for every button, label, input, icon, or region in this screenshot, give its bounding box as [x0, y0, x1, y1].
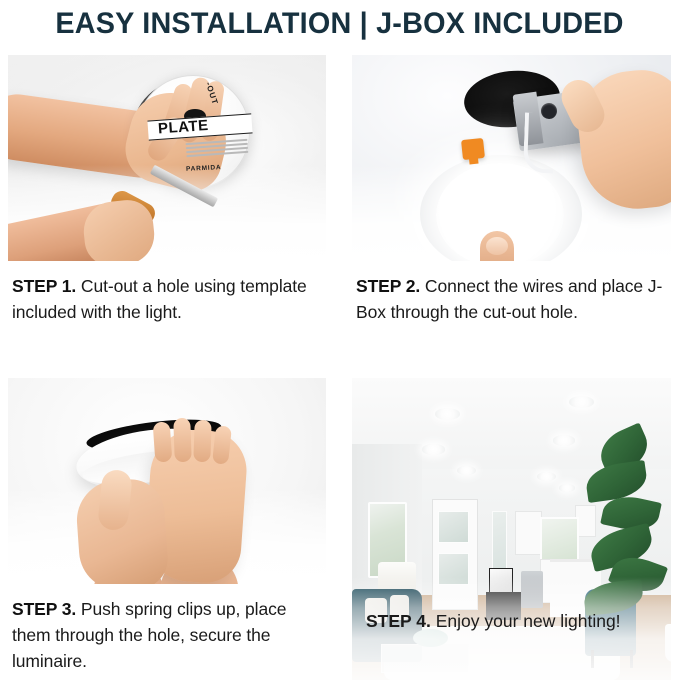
step-4-label: STEP 4.	[366, 611, 431, 631]
recessed-light	[537, 472, 556, 481]
fingernail	[486, 237, 508, 255]
step-3-photo	[8, 378, 326, 584]
steps-grid: -OUT PLATE PARMIDA STEP 1	[8, 55, 671, 680]
step-1-label: STEP 1.	[12, 276, 76, 296]
recessed-light	[559, 484, 575, 492]
step-1-photo: -OUT PLATE PARMIDA	[8, 55, 326, 261]
step-2-photo	[352, 55, 671, 261]
finger-3	[193, 420, 211, 463]
kitchen-upper-cabinet	[515, 511, 543, 555]
door-glass-upper	[438, 511, 469, 543]
kitchen-window	[540, 517, 579, 563]
step-3-caption: STEP 3. Push spring clips up, place them…	[8, 584, 326, 674]
step-4-photo: STEP 4. Enjoy your new lighting!	[352, 378, 671, 680]
connector-wire	[523, 112, 555, 173]
page-title: EASY INSTALLATION | J-BOX INCLUDED	[14, 0, 666, 48]
finger-2	[173, 418, 192, 463]
installation-infographic: EASY INSTALLATION | J-BOX INCLUDED -OUT …	[0, 0, 679, 680]
step-4-caption: STEP 4. Enjoy your new lighting!	[352, 608, 671, 680]
recessed-light	[422, 444, 444, 454]
plant-leaf	[584, 460, 649, 503]
step-card-1: -OUT PLATE PARMIDA STEP 1	[8, 55, 326, 354]
step-card-2: STEP 2. Connect the wires and place J-Bo…	[352, 55, 671, 354]
orange-spring-clip	[461, 138, 485, 160]
recessed-light	[457, 466, 476, 475]
step-card-4: STEP 4. Enjoy your new lighting!	[352, 378, 671, 680]
step-2-caption: STEP 2. Connect the wires and place J-Bo…	[352, 261, 671, 325]
recessed-light	[553, 435, 575, 445]
finger-1	[153, 421, 173, 462]
step-3-label: STEP 3.	[12, 599, 76, 619]
step-4-text: Enjoy your new lighting!	[431, 611, 621, 631]
step-2-label: STEP 2.	[356, 276, 420, 296]
step-card-3: STEP 3. Push spring clips up, place them…	[8, 378, 326, 680]
step-1-caption: STEP 1. Cut-out a hole using template in…	[8, 261, 326, 325]
